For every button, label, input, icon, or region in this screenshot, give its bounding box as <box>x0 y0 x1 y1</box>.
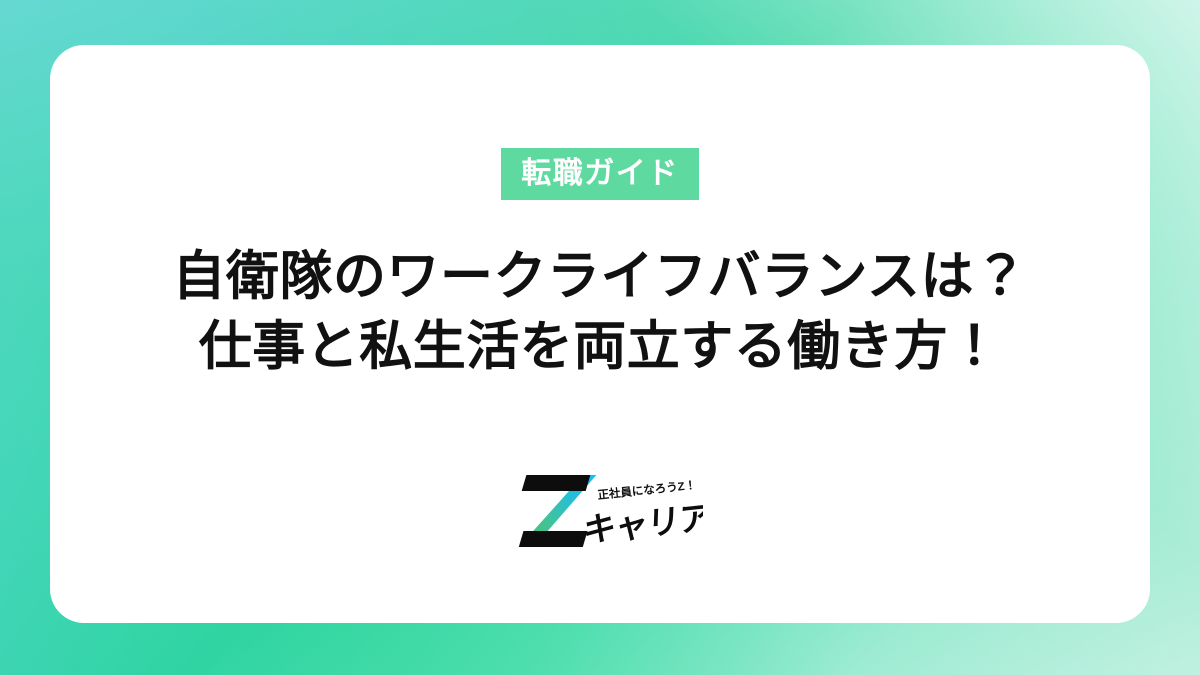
page-title-line-2: 仕事と私生活を両立する働き方！ <box>173 312 1028 382</box>
page-title: 自衛隊のワークライフバランスは？ 仕事と私生活を両立する働き方！ <box>173 242 1028 382</box>
poster-canvas: 転職ガイド 自衛隊のワークライフバランスは？ 仕事と私生活を両立する働き方！ <box>0 0 1200 675</box>
brand-logo: 正社員になろうZ！ キャリア <box>497 469 703 553</box>
content-card: 転職ガイド 自衛隊のワークライフバランスは？ 仕事と私生活を両立する働き方！ <box>50 45 1150 623</box>
page-title-line-1: 自衛隊のワークライフバランスは？ <box>173 242 1028 312</box>
logo-tagline: 正社員になろうZ！ <box>597 478 697 502</box>
brand-logo-artwork: 正社員になろうZ！ キャリア <box>497 469 703 553</box>
card-inner: 転職ガイド 自衛隊のワークライフバランスは？ 仕事と私生活を両立する働き方！ <box>50 45 1150 623</box>
category-badge-label: 転職ガイド <box>521 159 679 189</box>
category-badge: 転職ガイド <box>501 148 699 200</box>
logo-wordmark: キャリア <box>583 500 703 551</box>
